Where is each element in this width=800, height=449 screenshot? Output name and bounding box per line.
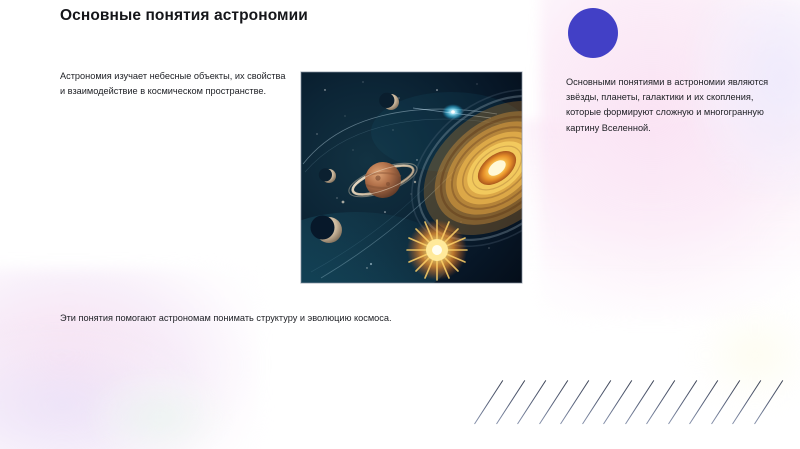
page-title: Основные понятия астрономии	[60, 7, 308, 25]
diagonal-hatch	[474, 372, 774, 424]
hatch-line	[754, 380, 783, 424]
slide-canvas: Основные понятия астрономии Астрономия и…	[0, 0, 800, 449]
lilac-wash-bottom-left	[0, 330, 200, 449]
pink-wash-center-right	[520, 120, 800, 270]
space-illustration	[301, 72, 522, 283]
left-paragraph: Астрономия изучает небесные объекты, их …	[60, 69, 288, 99]
right-paragraph: Основными понятиями в астрономии являютс…	[566, 75, 778, 136]
mint-wash-bottom-left	[90, 372, 230, 449]
space-illustration-graphic	[301, 72, 522, 283]
blue-circle	[568, 8, 618, 58]
pink-wash-bottom-left	[0, 268, 260, 449]
caption-text: Эти понятия помогают астрономам понимать…	[60, 311, 392, 325]
